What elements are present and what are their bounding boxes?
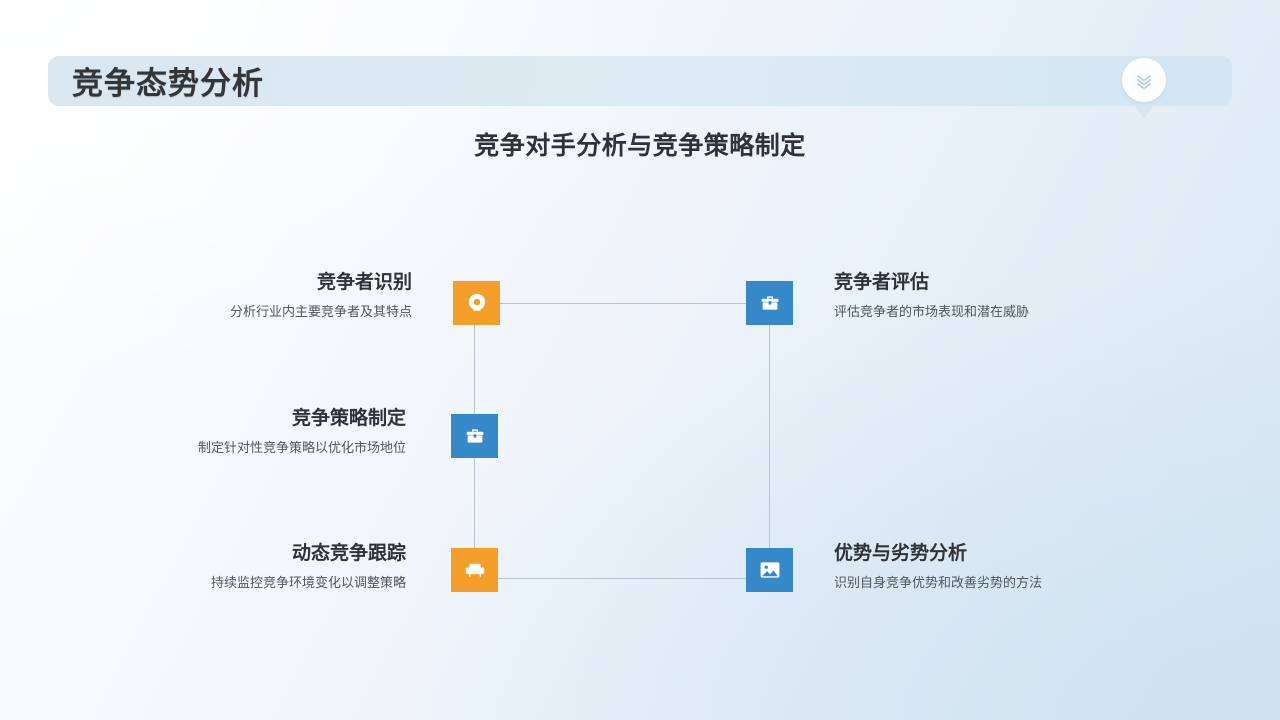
- connector-right-vertical: [769, 325, 770, 548]
- armchair-icon: [462, 557, 488, 583]
- process-diagram: 竞争者识别 分析行业内主要竞争者及其特点 竞争者评估 评估竞争者的市场表现和潜在…: [0, 0, 1280, 720]
- node-description: 识别自身竞争优势和改善劣势的方法: [834, 575, 1134, 592]
- node-title: 动态竞争跟踪: [106, 543, 406, 566]
- slide-canvas: 竞争态势分析 竞争对手分析与竞争策略制定: [0, 0, 1280, 720]
- diagram-label-strategy-formulation: 竞争策略制定 制定针对性竞争策略以优化市场地位: [106, 408, 406, 457]
- node-description: 制定针对性竞争策略以优化市场地位: [106, 440, 406, 457]
- diagram-node-strategy-formulation[interactable]: [451, 414, 498, 458]
- diagram-node-competitor-evaluation[interactable]: [746, 281, 793, 325]
- connector-top-horizontal: [500, 303, 746, 304]
- node-description: 评估竞争者的市场表现和潜在威胁: [834, 304, 1134, 321]
- connector-left-vertical-lower: [474, 458, 475, 548]
- briefcase-icon: [463, 424, 487, 448]
- diagram-label-swot-analysis: 优势与劣势分析 识别自身竞争优势和改善劣势的方法: [834, 543, 1134, 592]
- diagram-label-competitor-evaluation: 竞争者评估 评估竞争者的市场表现和潜在威胁: [834, 272, 1134, 321]
- node-title: 竞争者识别: [112, 272, 412, 295]
- diagram-node-dynamic-tracking[interactable]: [451, 548, 498, 592]
- connector-bottom-horizontal: [498, 578, 746, 579]
- node-description: 分析行业内主要竞争者及其特点: [112, 304, 412, 321]
- diagram-label-dynamic-tracking: 动态竞争跟踪 持续监控竞争环境变化以调整策略: [106, 543, 406, 592]
- node-title: 优势与劣势分析: [834, 543, 1134, 566]
- node-title: 竞争策略制定: [106, 408, 406, 431]
- briefcase-icon: [758, 291, 782, 315]
- connector-left-vertical-upper: [474, 325, 475, 414]
- target-circle-icon: [465, 291, 489, 315]
- diagram-label-competitor-identification: 竞争者识别 分析行业内主要竞争者及其特点: [112, 272, 412, 321]
- image-picture-icon: [757, 557, 783, 583]
- node-title: 竞争者评估: [834, 272, 1134, 295]
- diagram-node-swot-analysis[interactable]: [746, 548, 793, 592]
- node-description: 持续监控竞争环境变化以调整策略: [106, 575, 406, 592]
- diagram-node-competitor-identification[interactable]: [453, 281, 500, 325]
